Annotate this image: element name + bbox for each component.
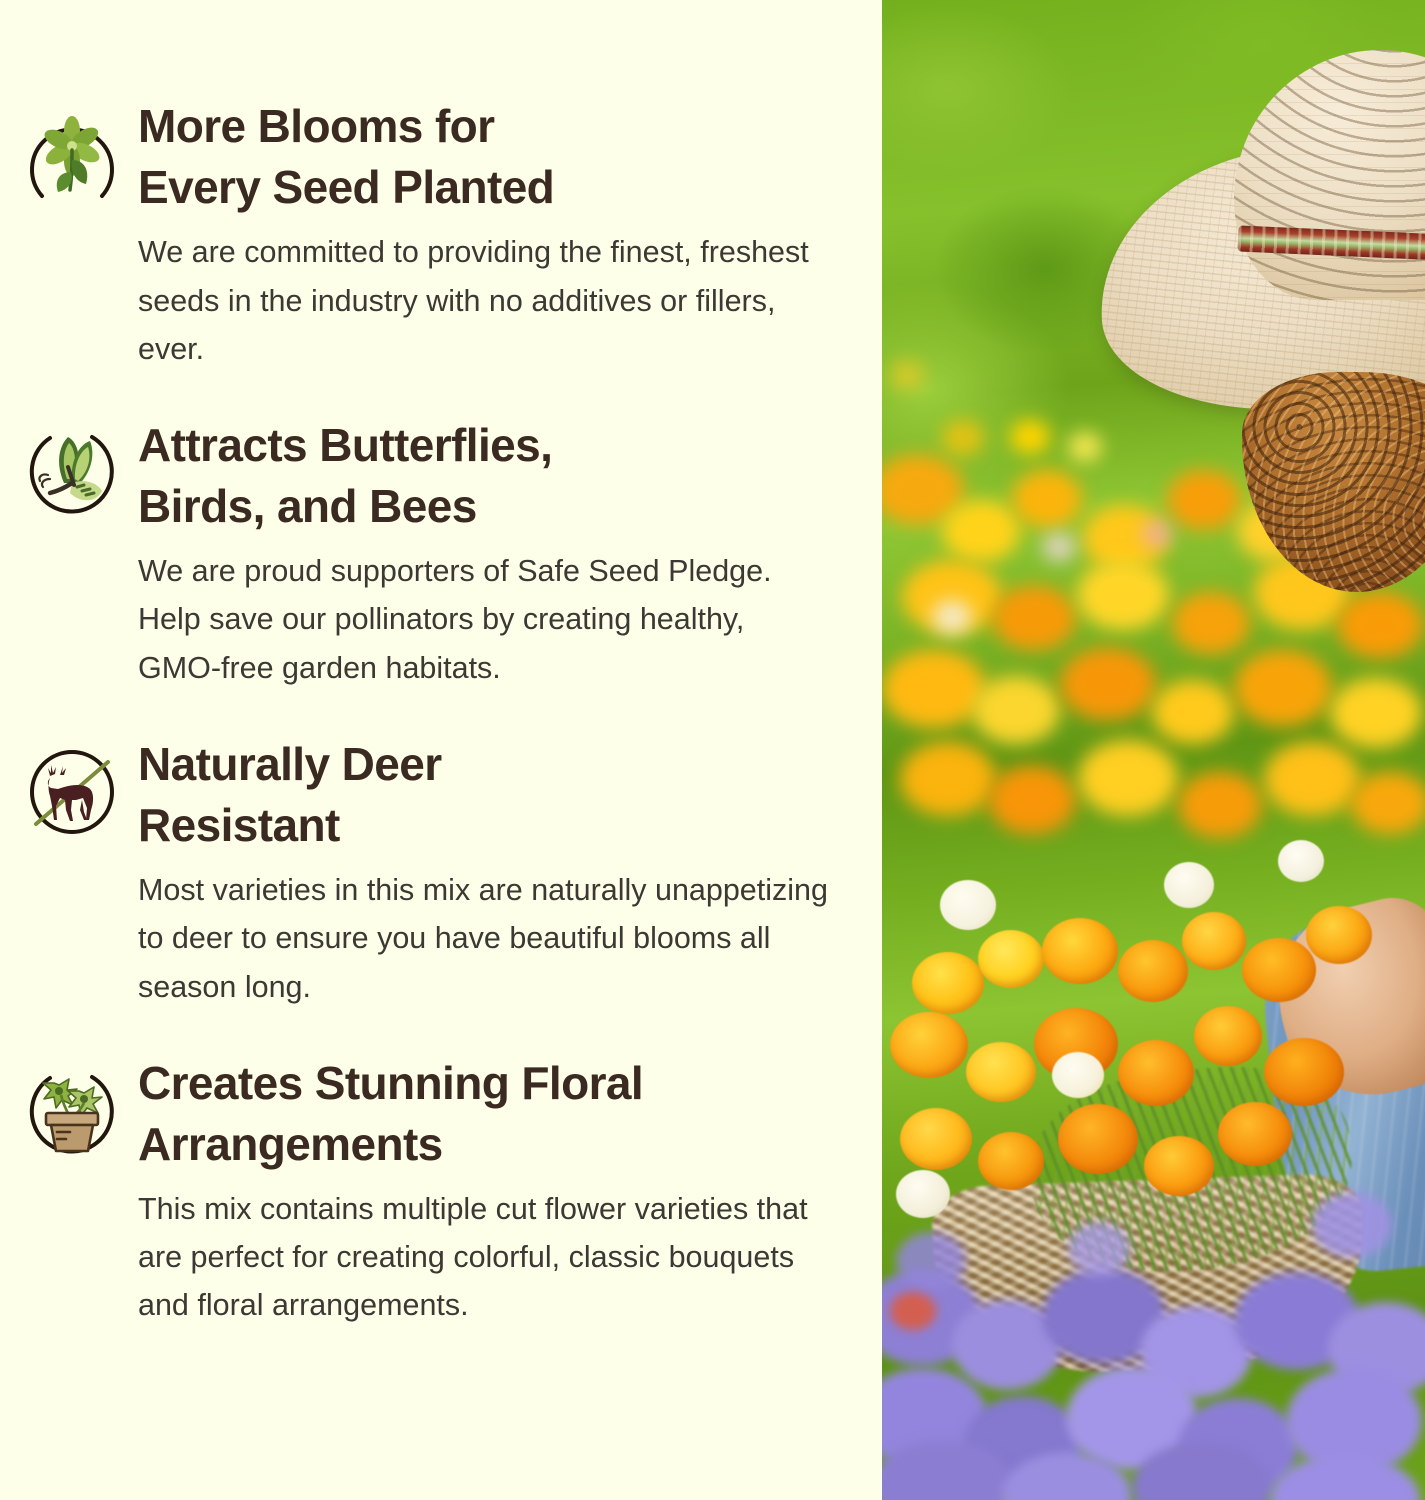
no-deer-in-circle-icon [6,734,138,844]
benefit-text-block: Attracts Butterflies, Birds, and Bees We… [138,415,860,692]
benefit-item-floral-arrangements: Creates Stunning Floral Arrangements Thi… [6,1053,860,1330]
product-feature-panel: More Blooms for Every Seed Planted We ar… [0,0,1425,1500]
foreground-purple-flowers [882,0,1425,1500]
benefit-title: Attracts Butterflies, Birds, and Bees [138,415,830,537]
benefit-item-deer-resistant: Naturally Deer Resistant Most varieties … [6,734,860,1011]
benefit-body: We are committed to providing the finest… [138,228,830,373]
benefit-body: We are proud supporters of Safe Seed Ple… [138,547,830,692]
benefits-panel: More Blooms for Every Seed Planted We ar… [0,0,882,1500]
benefit-item-attracts-pollinators: Attracts Butterflies, Birds, and Bees We… [6,415,860,692]
benefit-title: Naturally Deer Resistant [138,734,830,856]
benefit-item-more-blooms: More Blooms for Every Seed Planted We ar… [6,96,860,373]
benefit-text-block: Naturally Deer Resistant Most varieties … [138,734,860,1011]
flower-in-circle-icon [6,96,138,206]
benefit-title: Creates Stunning Floral Arrangements [138,1053,830,1175]
lifestyle-photo [882,0,1425,1500]
benefit-text-block: Creates Stunning Floral Arrangements Thi… [138,1053,860,1330]
benefit-text-block: More Blooms for Every Seed Planted We ar… [138,96,860,373]
benefit-title: More Blooms for Every Seed Planted [138,96,830,218]
potted-plant-in-circle-icon [6,1053,138,1163]
benefit-body: This mix contains multiple cut flower va… [138,1185,830,1330]
butterfly-in-circle-icon [6,415,138,525]
benefit-body: Most varieties in this mix are naturally… [138,866,830,1011]
